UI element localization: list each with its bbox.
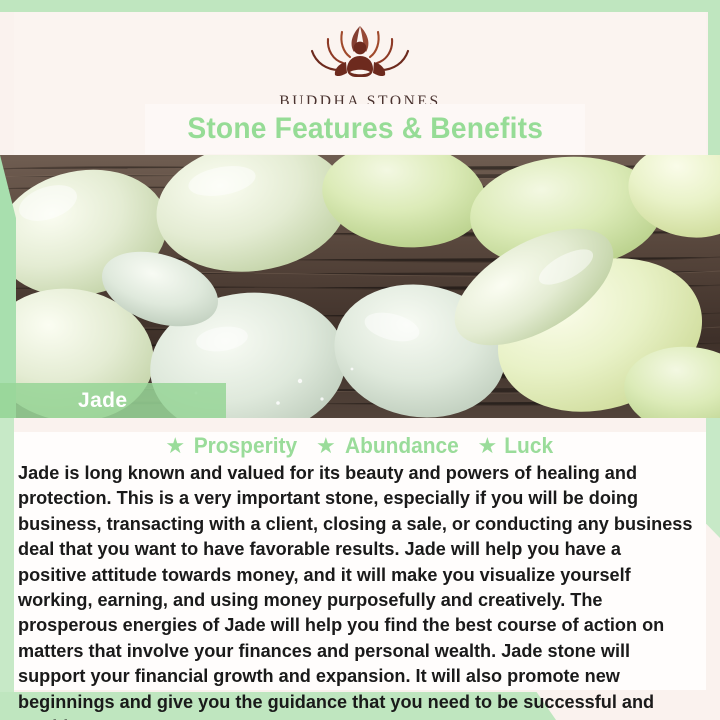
- stone-info-card: BUDDHA STONES Stone Features & Benefits: [0, 0, 720, 720]
- star-icon: ★: [478, 435, 498, 457]
- benefit-label: Prosperity: [194, 433, 297, 459]
- frame-top-accent: [0, 0, 720, 12]
- stone-caption-bar: Jade: [0, 383, 226, 418]
- title-band: Stone Features & Benefits: [145, 104, 585, 154]
- benefit-label: Luck: [505, 433, 554, 459]
- page-title: Stone Features & Benefits: [187, 112, 543, 146]
- star-icon: ★: [316, 435, 336, 457]
- frame-right-accent: [708, 0, 720, 155]
- star-icon: ★: [165, 435, 185, 457]
- benefit-item: ★ Prosperity: [165, 433, 300, 459]
- benefit-item: ★ Abundance: [316, 433, 462, 459]
- body-left-accent: [0, 418, 14, 692]
- lotus-meditation-icon: [294, 18, 426, 91]
- benefit-label: Abundance: [345, 433, 459, 459]
- frame-left-accent: [0, 0, 14, 12]
- brand-logo: BUDDHA STONES: [279, 18, 440, 111]
- description-text: Jade is long known and valued for its be…: [18, 460, 694, 720]
- body-right-accent: [706, 418, 720, 538]
- benefits-row: ★ Prosperity ★ Abundance ★ Luck: [14, 430, 706, 462]
- stone-caption: Jade: [78, 389, 127, 413]
- stone-photo: [0, 155, 720, 418]
- benefit-item: ★ Luck: [478, 433, 555, 459]
